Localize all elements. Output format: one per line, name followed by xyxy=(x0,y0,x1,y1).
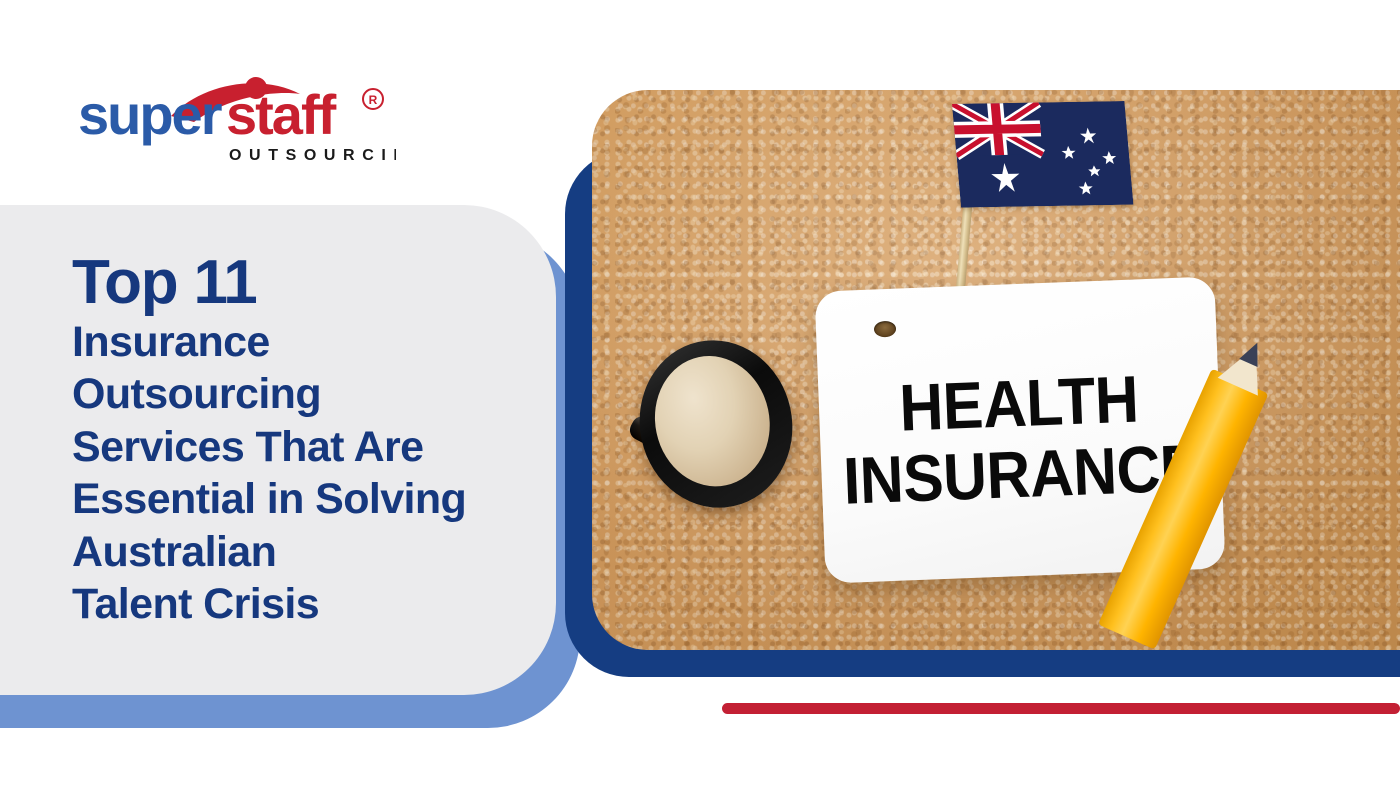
headline-line-5: Australian xyxy=(72,526,502,578)
magnifying-glass-icon xyxy=(612,340,792,530)
australian-flag-artwork xyxy=(952,101,1133,208)
magnifier-ring xyxy=(624,326,808,522)
logo-word-staff: staff xyxy=(226,83,337,146)
banner-canvas: super staff R OUTSOURCING Top 11 Insuran… xyxy=(0,0,1400,800)
logo-tagline: OUTSOURCING xyxy=(229,147,396,164)
hero-photo: HEALTH INSURANCE xyxy=(592,90,1400,650)
logo-artwork: super staff R OUTSOURCING xyxy=(76,72,396,168)
headline-line-1: Insurance xyxy=(72,316,502,368)
headline-line-3: Services That Are xyxy=(72,421,502,473)
headline-kicker: Top 11 xyxy=(72,252,502,314)
superstaff-logo[interactable]: super staff R OUTSOURCING xyxy=(76,72,396,168)
registered-trademark-icon: R xyxy=(369,93,378,107)
headline-line-4: Essential in Solving xyxy=(72,473,502,525)
australian-flag-icon xyxy=(952,101,1133,208)
logo-word-super: super xyxy=(78,83,222,146)
note-card-line-2: INSURANCE xyxy=(842,435,1201,513)
footer-red-rule xyxy=(722,703,1400,714)
magnifier-lens xyxy=(643,345,782,497)
headline-line-6: Talent Crisis xyxy=(72,578,502,630)
page-title: Top 11 Insurance Outsourcing Services Th… xyxy=(72,252,502,631)
note-card-pin-hole xyxy=(874,321,897,338)
headline-line-2: Outsourcing xyxy=(72,368,502,420)
note-card-line-1: HEALTH xyxy=(898,367,1139,441)
